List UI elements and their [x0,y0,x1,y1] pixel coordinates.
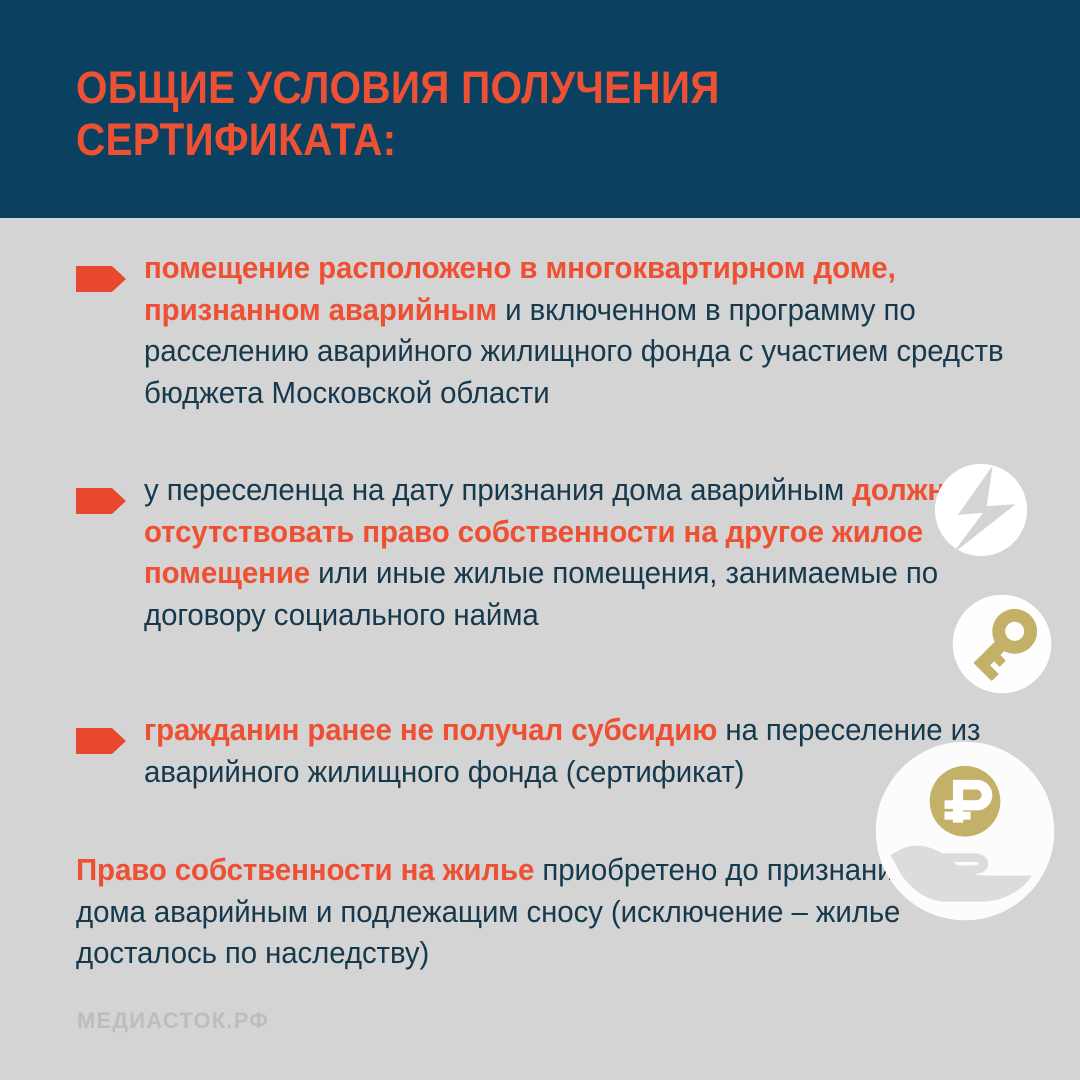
list-item-text: у переселенца на дату признания дома ава… [144,470,1013,636]
conditions-list: помещение расположено в многоквартирном … [0,218,1080,1080]
emphasized-text: Право собственности на жилье [76,853,534,887]
list-item-text: гражданин ранее не получал субсидию на п… [144,710,1013,793]
arrow-marker-icon [76,728,126,754]
header-band: ОБЩИЕ УСЛОВИЯ ПОЛУЧЕНИЯ СЕРТИФИКАТА: [0,0,1080,218]
emphasized-text: гражданин ранее не получал субсидию [144,713,717,747]
page-title: ОБЩИЕ УСЛОВИЯ ПОЛУЧЕНИЯ СЕРТИФИКАТА: [76,62,886,166]
arrow-marker-icon [76,488,126,514]
list-item-text: помещение расположено в многоквартирном … [144,248,1061,414]
closing-paragraph-text: Право собственности на жилье приобретено… [76,850,973,975]
plain-text: у переселенца на дату признания дома ава… [144,473,852,507]
arrow-marker-icon [76,266,126,292]
watermark: МЕДИАСТОК.РФ [77,1008,269,1034]
infographic-poster: ОБЩИЕ УСЛОВИЯ ПОЛУЧЕНИЯ СЕРТИФИКАТА: пом… [0,0,1080,1080]
